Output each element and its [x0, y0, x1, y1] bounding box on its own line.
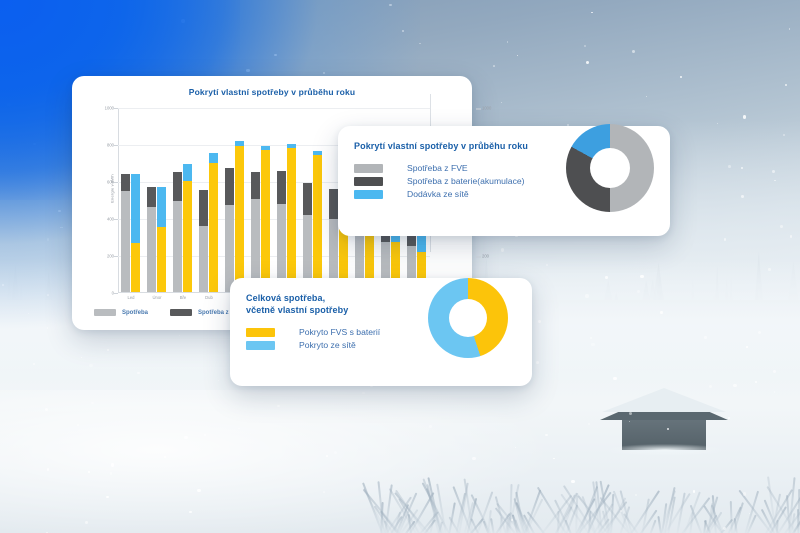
legend-label: Spotřeba z FVE: [407, 163, 468, 173]
bar-segment: [147, 207, 156, 292]
x-axis-tick-label: Led: [128, 295, 135, 300]
snowflake: [728, 165, 731, 168]
bar[interactable]: [157, 187, 166, 292]
snowflake: [189, 511, 192, 514]
y-axis-tick: [114, 108, 118, 109]
snowflake: [613, 377, 616, 380]
snowflake: [660, 311, 662, 313]
snowflake: [472, 457, 476, 461]
snowflake: [635, 494, 636, 495]
snowflake: [773, 370, 776, 373]
bar-segment: [173, 172, 182, 202]
bar-group[interactable]: Únor: [145, 107, 169, 292]
snowflake: [774, 391, 776, 393]
bar-segment: [329, 189, 338, 219]
bar-segment: [209, 153, 218, 162]
bar-segment: [199, 190, 208, 226]
y-axis-tick-label: 800: [107, 143, 114, 148]
bar-segment: [261, 150, 270, 292]
snowflake: [783, 134, 785, 136]
snowflake: [758, 331, 761, 334]
bar-segment: [225, 168, 234, 205]
bar-segment: [121, 191, 130, 292]
y-axis-tick: [114, 145, 118, 146]
snowflake: [591, 12, 593, 14]
legend-swatch: [354, 177, 383, 186]
bar[interactable]: [131, 174, 140, 292]
snowflake: [515, 447, 516, 448]
snowflake: [724, 238, 726, 240]
bar-group[interactable]: Bře: [171, 107, 195, 292]
snowflake: [693, 490, 695, 492]
bar[interactable]: [277, 171, 286, 292]
bar-group[interactable]: Črvn: [249, 107, 273, 292]
bar-segment: [131, 174, 140, 243]
chart-legend-item[interactable]: Spotřeba: [94, 309, 148, 316]
bar-segment: [183, 181, 192, 292]
snowflake: [538, 320, 541, 323]
bar-segment: [277, 171, 286, 204]
snowflake: [629, 412, 632, 415]
snowflake: [501, 248, 504, 251]
snowflake: [755, 381, 757, 383]
bar-segment: [199, 226, 208, 292]
snowflake: [85, 521, 88, 524]
total-consumption-card: Celková spotřeba, včetně vlastní spotřeb…: [230, 278, 532, 386]
snowflake: [588, 423, 591, 426]
bar-segment: [147, 187, 156, 207]
bar-segment: [235, 146, 244, 292]
snowflake: [586, 61, 589, 64]
snowflake: [493, 65, 495, 67]
snowflake: [546, 264, 548, 266]
y-axis-tick: [114, 182, 118, 183]
snowflake: [620, 510, 622, 512]
snowflake: [111, 463, 114, 466]
snowflake: [785, 84, 787, 86]
legend-label: Spotřeba z baterie(akumulace): [407, 176, 525, 186]
snowflake: [728, 417, 730, 419]
bar-segment: [303, 183, 312, 215]
donut-hole: [590, 148, 630, 188]
bar[interactable]: [121, 174, 130, 292]
snowflake: [501, 102, 502, 103]
snowflake: [81, 357, 82, 358]
bar[interactable]: [147, 187, 156, 292]
snowflake: [789, 28, 790, 29]
snowflake: [733, 384, 736, 387]
y-axis-label: Energie v kWh: [110, 159, 115, 219]
snowflake: [204, 434, 206, 436]
snowflake: [517, 55, 518, 56]
bar[interactable]: [313, 151, 322, 292]
bar-group[interactable]: Dub: [197, 107, 221, 292]
snowflake: [218, 380, 219, 381]
snowflake: [277, 405, 279, 407]
snowflake: [772, 170, 775, 173]
legend-swatch: [246, 328, 275, 337]
snowflake: [749, 513, 750, 514]
snowflake: [536, 361, 539, 364]
legend-swatch: [354, 164, 383, 173]
chart-legend: SpotřebaSpotřeba z bat: [94, 309, 239, 316]
y-axis-tick: [114, 293, 118, 294]
legend-swatch: [170, 309, 192, 316]
snowflake: [184, 436, 187, 439]
legend-swatch: [246, 341, 275, 350]
snowflake: [746, 346, 748, 348]
bar-group[interactable]: Črvc: [275, 107, 299, 292]
snowflake: [637, 290, 640, 293]
bar[interactable]: [261, 146, 270, 292]
snowflake: [511, 519, 513, 521]
snowflake: [77, 424, 79, 426]
bar-segment: [209, 163, 218, 293]
snowflake: [107, 349, 109, 351]
screenshot-stage: Pokrytí vlastní spotřeby v průběhu roku …: [0, 0, 800, 533]
snowflake: [704, 336, 706, 338]
y-axis-tick-label: 200: [107, 254, 114, 259]
own-consumption-coverage-card: Pokrytí vlastní spotřeby v průběhu roku …: [338, 126, 670, 236]
snowflake: [89, 364, 92, 367]
bar[interactable]: [251, 172, 260, 292]
x-axis-tick-label: Únor: [152, 295, 161, 300]
bar-group[interactable]: Kvě: [223, 107, 247, 292]
snowflake: [646, 96, 647, 97]
bar-segment: [417, 236, 426, 253]
bar[interactable]: [183, 164, 192, 292]
donut-ring[interactable]: [566, 124, 654, 212]
secondary-y-axis-tick-label: 200: [482, 254, 489, 259]
snowflake: [741, 195, 744, 198]
snowflake: [323, 491, 325, 493]
snowflake: [743, 115, 746, 118]
snowflake: [667, 428, 669, 430]
y-axis-tick: [114, 256, 118, 257]
bar-segment: [131, 243, 140, 292]
snowflake: [106, 496, 109, 499]
y-axis-tick-label: 1000: [105, 106, 114, 111]
snowflake: [47, 468, 50, 471]
legend-label: Spotřeba: [122, 310, 148, 316]
snowflake: [326, 455, 328, 457]
legend-swatch: [94, 309, 116, 316]
snowflake: [780, 225, 783, 228]
snowflake: [591, 343, 594, 346]
snowflake: [768, 268, 770, 270]
snowflake: [110, 472, 113, 475]
snowflake: [91, 402, 93, 404]
snowflake: [790, 235, 792, 237]
bar[interactable]: [199, 190, 208, 292]
donut-hole: [449, 299, 487, 337]
snowflake: [629, 421, 630, 422]
bar[interactable]: [173, 172, 182, 292]
bar-segment: [251, 172, 260, 199]
snowflake: [164, 456, 166, 458]
donut-ring[interactable]: [428, 278, 508, 358]
snowflake: [33, 363, 35, 365]
bar-segment: [157, 227, 166, 292]
snowflake: [571, 480, 574, 483]
bar-segment: [173, 201, 182, 292]
bar-segment: [287, 148, 296, 292]
legend-label: Dodávka ze sítě: [407, 189, 469, 199]
legend-swatch: [354, 190, 383, 199]
bar-group[interactable]: Led: [119, 107, 143, 292]
snowflake: [590, 337, 592, 339]
snowflake: [507, 41, 509, 43]
bar-segment: [183, 164, 192, 181]
snowflake: [553, 458, 555, 460]
snowflake: [680, 76, 683, 79]
snowflake: [723, 527, 726, 530]
snowflake: [640, 275, 644, 279]
snowflake: [743, 492, 746, 495]
bar[interactable]: [209, 153, 218, 292]
snowflake: [741, 167, 744, 170]
snowflake: [585, 294, 589, 298]
snowflake: [45, 408, 48, 411]
bar[interactable]: [287, 144, 296, 292]
snowflake: [584, 45, 585, 46]
snowflake: [362, 392, 365, 395]
bar-segment: [157, 187, 166, 228]
x-axis-tick-label: Bře: [180, 295, 187, 300]
y-axis-tick: [114, 219, 118, 220]
snowflake: [545, 434, 548, 437]
legend-label: Pokryto ze sítě: [299, 340, 356, 350]
x-axis-tick-label: Dub: [205, 295, 213, 300]
legend-label: Pokryto FVS s baterií: [299, 327, 380, 337]
snowflake: [774, 180, 776, 182]
snowflake: [238, 428, 240, 430]
snowflake: [137, 372, 140, 375]
snowflake: [88, 471, 89, 472]
bar[interactable]: [303, 183, 312, 292]
y-axis-tick-label: 600: [107, 180, 114, 185]
snowflake: [632, 50, 635, 53]
chart-title: Pokrytí vlastní spotřeby v průběhu roku: [72, 76, 472, 97]
snowflake: [197, 489, 200, 492]
snowflake: [605, 276, 608, 279]
bar-segment: [313, 155, 322, 292]
snowflake: [717, 123, 718, 124]
bar[interactable]: [329, 189, 338, 292]
snowflake: [334, 451, 337, 454]
snowflake: [709, 385, 712, 388]
bar[interactable]: [235, 141, 244, 292]
bar-segment: [121, 174, 130, 192]
snowflake: [429, 425, 431, 427]
y-axis-tick-label: 400: [107, 217, 114, 222]
bar[interactable]: [225, 168, 234, 292]
secondary-y-axis-tick-label: 1000: [482, 106, 491, 111]
bar-group[interactable]: Srp: [301, 107, 325, 292]
chart-legend-item[interactable]: Spotřeba z bat: [170, 309, 239, 316]
